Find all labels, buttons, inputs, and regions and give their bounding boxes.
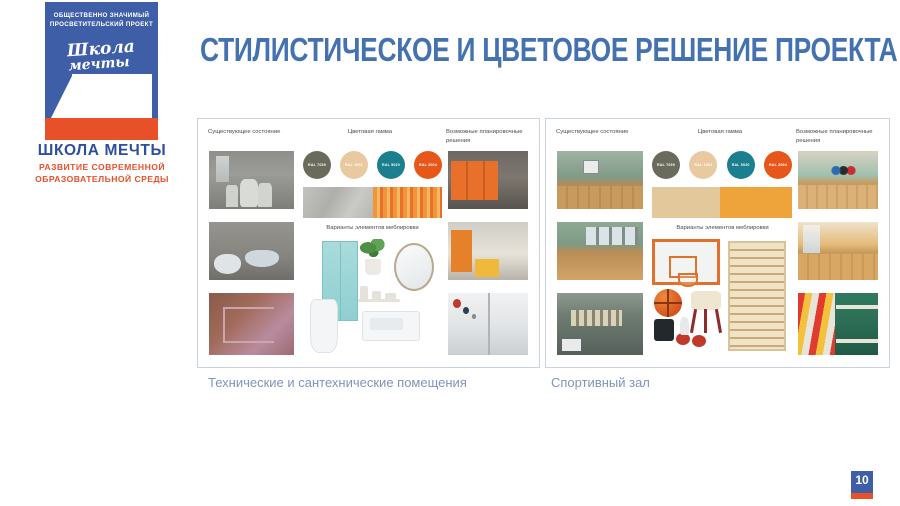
logo-top-text: ОБЩЕСТВЕННО ЗНАЧИМЫЙ ПРОСВЕТИТЕЛЬСКИЙ ПР… — [45, 11, 158, 29]
plant-leaves — [360, 239, 387, 261]
page-number: 10 — [851, 473, 873, 487]
furniture-cluster-sanitary — [300, 237, 445, 357]
slide-root: ОБЩЕСТВЕННО ЗНАЧИМЫЙ ПРОСВЕТИТЕЛЬСКИЙ ПР… — [0, 0, 900, 506]
ral-chip-3: RAL 5020 — [377, 151, 405, 179]
ral-chip-3: RAL 5020 — [727, 151, 755, 179]
ral-chip-3-label: RAL 5020 — [727, 163, 755, 167]
heading-furniture-right: Варианты элементов меблировки — [650, 225, 795, 231]
ral-chip-2: RAL 1001 — [340, 151, 368, 179]
logo-sub-line-1: РАЗВИТИЕ СОВРЕМЕННОЙ — [18, 162, 186, 174]
caption-gym: Спортивный зал — [551, 375, 650, 390]
material-swatch-row-right — [652, 187, 792, 218]
logo-blue-box: ОБЩЕСТВЕННО ЗНАЧИМЫЙ ПРОСВЕТИТЕЛЬСКИЙ ПР… — [45, 2, 158, 140]
ral-chip-1: RAL 7039 — [652, 151, 680, 179]
photo-trophy-room — [557, 293, 643, 355]
washbasin-icon — [362, 311, 420, 341]
bowling-pin-icon — [680, 317, 689, 335]
photo-orange-corridor — [448, 222, 528, 280]
heading-planning-right-line1: Возможные планировочные — [796, 128, 882, 137]
ral-chip-row-right: RAL 7039 RAL 1001 RAL 5020 RAL 2004 — [652, 151, 792, 179]
brand-logo: ОБЩЕСТВЕННО ЗНАЧИМЫЙ ПРОСВЕТИТЕЛЬСКИЙ ПР… — [18, 2, 186, 192]
heading-palette-left: Цветовая гамма — [300, 128, 440, 137]
photo-renovated-gym-green — [798, 151, 878, 209]
ral-chip-4-label: RAL 2004 — [764, 163, 792, 167]
swatch-orange-mosaic — [373, 187, 442, 218]
logo-top-line-2: ПРОСВЕТИТЕЛЬСКИЙ ПРОЕКТ — [45, 20, 158, 29]
page-number-badge: 10 — [851, 471, 873, 499]
horse-leg-3 — [715, 309, 722, 334]
badge-orange-strip — [851, 493, 873, 499]
page-title: СТИЛИСТИЧЕСКОЕ И ЦВЕТОВОЕ РЕШЕНИЕ ПРОЕКТ… — [200, 32, 728, 68]
swatch-parquet — [652, 187, 720, 218]
logo-title: ШКОЛА МЕЧТЫ — [18, 142, 186, 160]
house-icon — [51, 74, 152, 118]
ral-chip-4: RAL 2004 — [414, 151, 442, 179]
ral-chip-3-label: RAL 5020 — [377, 163, 405, 167]
photo-sink-old — [209, 222, 294, 280]
panel-gym: Существующее состояние Цветовая гамма Во… — [545, 118, 890, 368]
heading-planning-right-line2: решения — [796, 137, 882, 146]
heading-palette-right: Цветовая гамма — [650, 128, 790, 137]
logo-top-line-1: ОБЩЕСТВЕННО ЗНАЧИМЫЙ — [45, 11, 158, 20]
ral-chip-4: RAL 2004 — [764, 151, 792, 179]
photo-old-gym-hall — [557, 151, 643, 209]
ral-chip-1-label: RAL 7039 — [303, 163, 331, 167]
ral-chip-2-label: RAL 1001 — [340, 163, 368, 167]
vaulting-horse-icon — [688, 291, 724, 333]
basketball-icon — [654, 289, 682, 317]
horse-body — [691, 291, 721, 310]
photo-white-bathroom — [448, 293, 528, 355]
heading-furniture-left: Варианты элементов меблировки — [300, 225, 445, 231]
heading-planning-left-line1: Возможные планировочные — [446, 128, 531, 137]
house-body-shape — [72, 74, 152, 118]
plant-pot — [365, 259, 382, 275]
photo-old-gym-windows — [557, 222, 643, 280]
ral-chip-2: RAL 1001 — [689, 151, 717, 179]
logo-orange-band — [45, 118, 158, 140]
photo-renovated-gym-amber — [798, 222, 878, 280]
photo-toilets-old — [209, 151, 294, 209]
photo-orange-stalls — [448, 151, 528, 209]
ral-chip-1-label: RAL 7039 — [652, 163, 680, 167]
toilet-icon — [310, 299, 338, 353]
heading-planning-left: Возможные планировочные решения — [446, 128, 531, 145]
logo-sub-line-2: ОБРАЗОВАТЕЛЬНОЙ СРЕДЫ — [18, 174, 186, 186]
round-mirror-icon — [394, 243, 434, 291]
potted-plant-icon — [358, 239, 388, 275]
furniture-cluster-gym — [650, 237, 796, 357]
photo-pink-wall — [209, 293, 294, 355]
ral-chip-row-left: RAL 7039 RAL 1001 RAL 5020 RAL 2004 — [303, 151, 442, 179]
panel-sanitary: Существующее состояние Цветовая гамма Во… — [197, 118, 540, 368]
sports-bag-icon — [654, 319, 674, 341]
basketball-hoop-icon — [678, 273, 698, 287]
horse-leg-1 — [690, 309, 697, 334]
table-tennis-paddle-2 — [692, 335, 706, 347]
swatch-amber — [720, 187, 792, 218]
heading-planning-right: Возможные планировочные решения — [796, 128, 882, 145]
photo-colorful-sports-floor — [798, 293, 878, 355]
material-swatch-row-left — [303, 187, 442, 218]
heading-planning-left-line2: решения — [446, 137, 531, 146]
accessory-shelf — [358, 299, 400, 302]
bath-accessories-icon — [358, 281, 400, 307]
logo-subtitle: РАЗВИТИЕ СОВРЕМЕННОЙ ОБРАЗОВАТЕЛЬНОЙ СРЕ… — [18, 162, 186, 185]
ral-chip-4-label: RAL 2004 — [414, 163, 442, 167]
ral-chip-1: RAL 7039 — [303, 151, 331, 179]
wall-bars-icon — [728, 241, 786, 351]
logo-script-wordmark: Школа мечты — [45, 38, 158, 76]
ral-chip-2-label: RAL 1001 — [689, 163, 717, 167]
swatch-concrete — [303, 187, 373, 218]
caption-sanitary: Технические и сантехнические помещения — [208, 375, 467, 390]
horse-leg-2 — [704, 309, 707, 333]
